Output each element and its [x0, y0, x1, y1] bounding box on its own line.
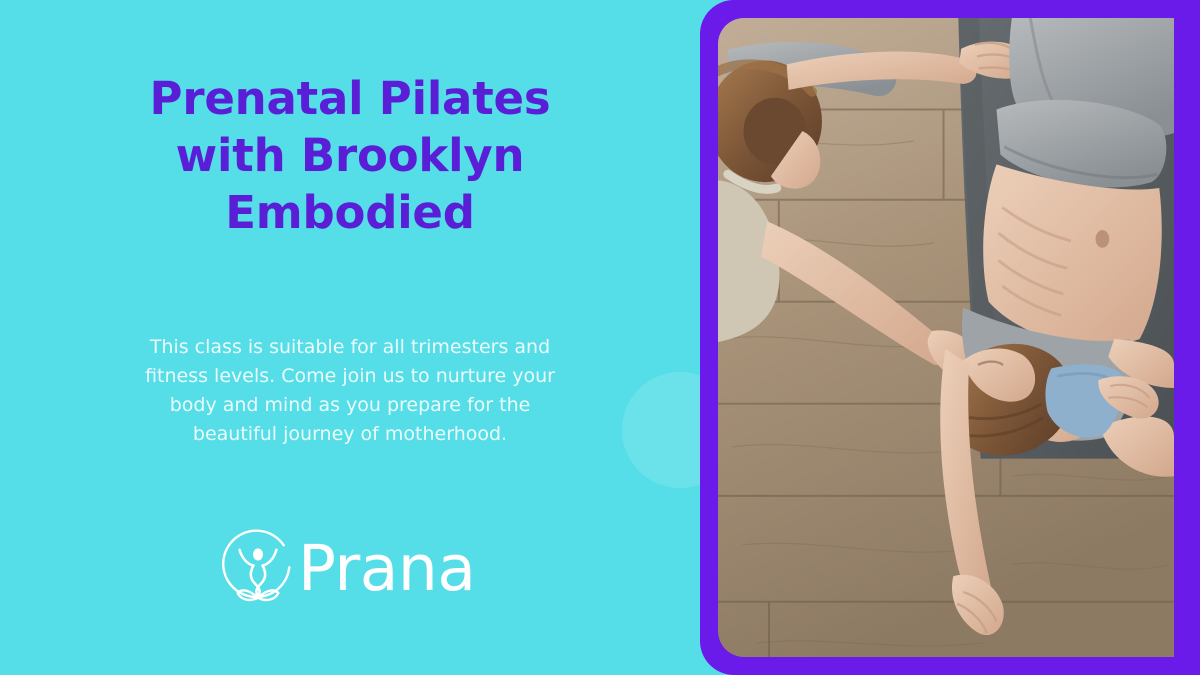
frame-right-strip: [1174, 9, 1200, 675]
description-line-3: body and mind as you prepare for the: [90, 391, 610, 420]
pilates-photo-illustration: [718, 18, 1174, 657]
page-title-line-3: Embodied: [50, 184, 650, 241]
text-column: Prenatal Pilates with Brooklyn Embodied …: [0, 0, 700, 675]
description-text: This class is suitable for all trimester…: [90, 333, 610, 449]
description-line-1: This class is suitable for all trimester…: [90, 333, 610, 362]
page-title: Prenatal Pilates with Brooklyn Embodied: [50, 70, 650, 241]
page-title-line-1: Prenatal Pilates: [50, 70, 650, 127]
hero-image: [718, 18, 1174, 657]
page-title-line-2: with Brooklyn: [50, 127, 650, 184]
prana-meditating-figure-circle-icon: [212, 525, 304, 617]
description-line-4: beautiful journey of motherhood.: [90, 420, 610, 449]
hero-image-frame: [700, 0, 1200, 675]
description-line-2: fitness levels. Come join us to nurture …: [90, 362, 610, 391]
promo-poster: Prenatal Pilates with Brooklyn Embodied …: [0, 0, 1200, 675]
brand-wordmark: Prana: [298, 537, 475, 606]
brand-logo: Prana: [212, 521, 475, 621]
